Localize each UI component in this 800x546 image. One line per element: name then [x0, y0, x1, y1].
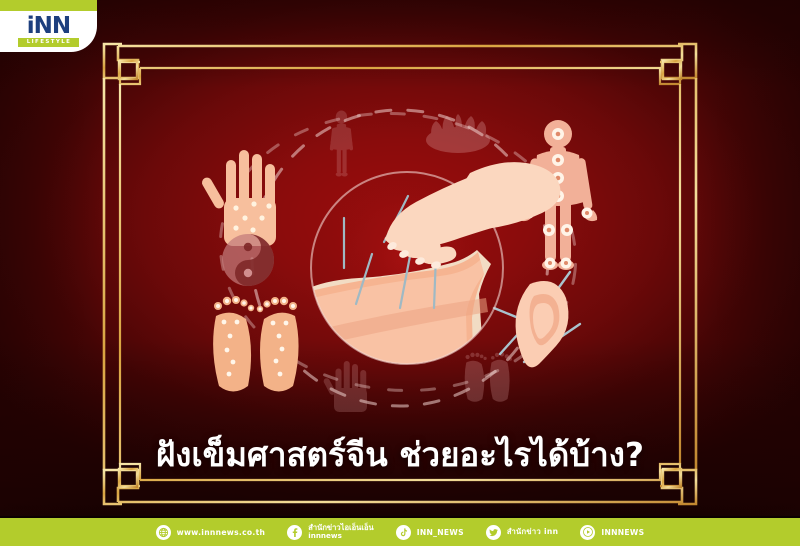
ear-with-needles [494, 272, 580, 367]
footer-facebook-line2: innnews [308, 532, 373, 541]
footer-item-facebook[interactable]: สำนักข่าวไอเอ็นเอ็น innnews [287, 524, 373, 541]
footer-item-tiktok[interactable]: INN_NEWS [396, 525, 464, 540]
twitter-icon [486, 525, 501, 540]
logo-green-accent-bar [0, 0, 97, 11]
footer-website-label: www.innnews.co.th [177, 528, 266, 537]
brand-logo[interactable]: iNN LIFESTYLE [0, 11, 97, 52]
globe-icon [156, 525, 171, 540]
social-footer-bar: www.innnews.co.th สำนักข่าวไอเอ็นเอ็น in… [0, 518, 800, 546]
footer-item-website[interactable]: www.innnews.co.th [156, 525, 266, 540]
logo-wordmark: iNN [27, 17, 70, 36]
logo-badge-lifestyle: LIFESTYLE [18, 38, 80, 47]
tiktok-icon [396, 525, 411, 540]
footer-youtube-label: INNNEWS [601, 528, 644, 537]
footer-item-twitter[interactable]: สำนักข่าว inn [486, 525, 558, 540]
youtube-icon [580, 525, 595, 540]
footer-facebook-labels: สำนักข่าวไอเอ็นเอ็น innnews [308, 524, 373, 541]
footer-twitter-label: สำนักข่าว inn [507, 526, 558, 538]
yin-yang-symbol [222, 234, 274, 286]
footer-item-youtube[interactable]: INNNEWS [580, 525, 644, 540]
footprints-with-acupoints [213, 296, 298, 392]
page-title: ฝังเข็มศาสตร์จีน ช่วยอะไรได้บ้าง? [0, 428, 800, 481]
poster-canvas: ฝังเข็มศาสตร์จีน ช่วยอะไรได้บ้าง? iNN LI… [0, 0, 800, 546]
footer-divider [0, 516, 800, 518]
hand-with-acupoints [200, 150, 276, 246]
footer-tiktok-label: INN_NEWS [417, 528, 464, 537]
facebook-icon [287, 525, 302, 540]
